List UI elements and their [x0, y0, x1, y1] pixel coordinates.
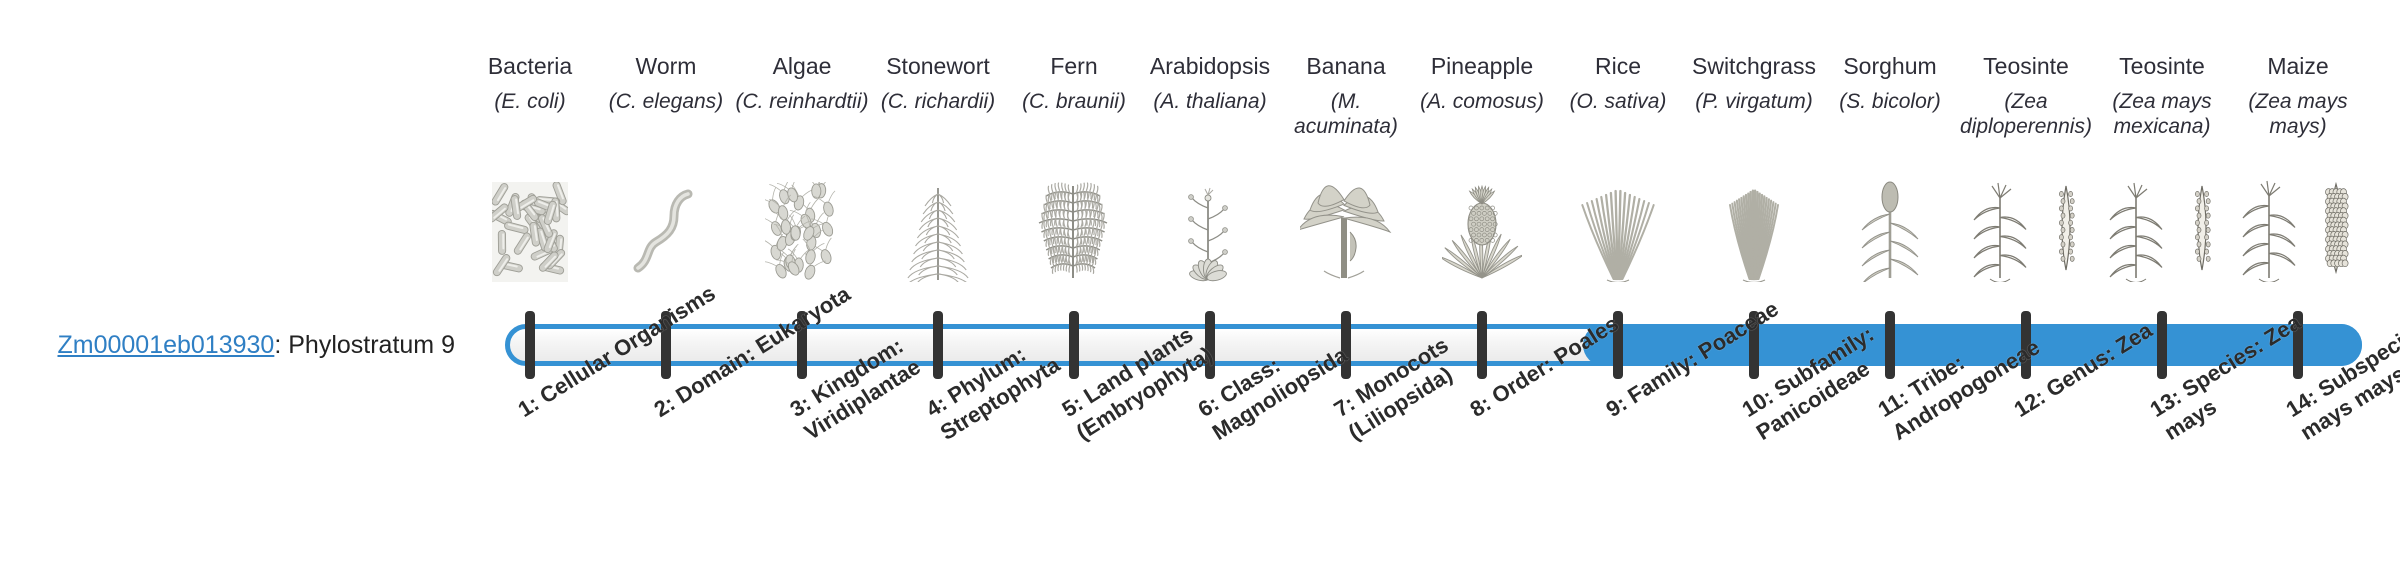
banana-icon — [1278, 172, 1414, 282]
species-latin-name: (Zea mays mexicana) — [2094, 89, 2230, 139]
species-latin-name: (A. comosus) — [1414, 89, 1550, 114]
maize-icon — [2230, 172, 2366, 282]
species-common-name: Stonewort — [870, 52, 1006, 80]
species-column: Arabidopsis(A. thaliana) — [1142, 52, 1278, 114]
species-column: Worm(C. elegans) — [598, 52, 734, 114]
gene-id-link[interactable]: Zm00001eb013930 — [57, 331, 274, 359]
species-column: Switchgrass(P. virgatum) — [1686, 52, 1822, 114]
teosinte-diploperennis-icon — [1958, 172, 2094, 282]
species-latin-name: (E. coli) — [462, 89, 598, 114]
algae-icon — [734, 172, 870, 282]
gene-phylostratum-label: Zm00001eb013930: Phylostratum 9 — [0, 330, 455, 360]
species-common-name: Bacteria — [462, 52, 598, 80]
species-latin-name: (C. braunii) — [1006, 89, 1142, 114]
phylostratum-chart: Zm00001eb013930: Phylostratum 9 Bacteria… — [0, 0, 2400, 580]
species-common-name: Algae — [734, 52, 870, 80]
species-latin-name: (C. richardii) — [870, 89, 1006, 114]
species-common-name: Teosinte — [1958, 52, 2094, 80]
species-latin-name: (C. reinhardtii) — [734, 89, 870, 114]
species-common-name: Rice — [1550, 52, 1686, 80]
species-latin-name: (A. thaliana) — [1142, 89, 1278, 114]
species-latin-name: (Zea mays mays) — [2230, 89, 2366, 139]
switchgrass-icon — [1686, 172, 1822, 282]
species-latin-name: (O. sativa) — [1550, 89, 1686, 114]
species-column: Algae(C. reinhardtii) — [734, 52, 870, 114]
teosinte-mexicana-icon — [2094, 172, 2230, 282]
species-column: Bacteria(E. coli) — [462, 52, 598, 114]
stonewort-icon — [870, 172, 1006, 282]
species-common-name: Sorghum — [1822, 52, 1958, 80]
fern-icon — [1006, 172, 1142, 282]
worm-icon — [598, 172, 734, 282]
species-column: Maize(Zea mays mays) — [2230, 52, 2366, 139]
species-column: Stonewort(C. richardii) — [870, 52, 1006, 114]
phylostratum-value-text: Phylostratum 9 — [288, 331, 455, 359]
species-column: Banana(M. acuminata) — [1278, 52, 1414, 139]
species-latin-name: (M. acuminata) — [1278, 89, 1414, 139]
species-column: Pineapple(A. comosus) — [1414, 52, 1550, 114]
species-column: Rice(O. sativa) — [1550, 52, 1686, 114]
species-column: Teosinte(Zea diploperennis) — [1958, 52, 2094, 139]
species-common-name: Maize — [2230, 52, 2366, 80]
species-column: Teosinte(Zea mays mexicana) — [2094, 52, 2230, 139]
bacteria-icon — [462, 172, 598, 282]
species-common-name: Banana — [1278, 52, 1414, 80]
species-common-name: Fern — [1006, 52, 1142, 80]
species-common-name: Switchgrass — [1686, 52, 1822, 80]
species-common-name: Teosinte — [2094, 52, 2230, 80]
species-latin-name: (C. elegans) — [598, 89, 734, 114]
species-column: Sorghum(S. bicolor) — [1822, 52, 1958, 114]
sorghum-icon — [1822, 172, 1958, 282]
species-common-name: Pineapple — [1414, 52, 1550, 80]
stratum-tick — [525, 311, 535, 379]
species-common-name: Arabidopsis — [1142, 52, 1278, 80]
species-latin-name: (Zea diploperennis) — [1958, 89, 2094, 139]
rice-icon — [1550, 172, 1686, 282]
species-latin-name: (S. bicolor) — [1822, 89, 1958, 114]
species-latin-name: (P. virgatum) — [1686, 89, 1822, 114]
arabidopsis-icon — [1142, 172, 1278, 282]
pineapple-icon — [1414, 172, 1550, 282]
species-common-name: Worm — [598, 52, 734, 80]
species-column: Fern(C. braunii) — [1006, 52, 1142, 114]
gene-label-separator: : — [274, 331, 288, 359]
